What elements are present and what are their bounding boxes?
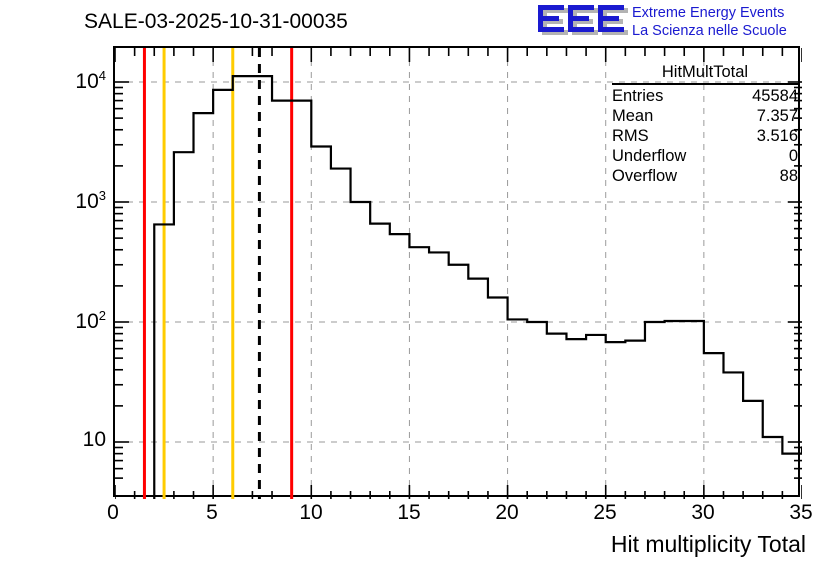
logo-line-1: Extreme Energy Events (632, 4, 787, 22)
x-tick-label-20: 20 (487, 501, 527, 525)
y-tick-label-10: 10 (48, 428, 106, 452)
stats-value: 7.357 (757, 106, 798, 126)
stats-row: Overflow88 (612, 166, 798, 186)
x-axis-title: Hit multiplicity Total (611, 531, 806, 558)
stats-row: RMS3.516 (612, 126, 798, 146)
y-tick-label-10e4: 104 (48, 68, 106, 94)
stats-row: Mean7.357 (612, 106, 798, 126)
x-tick-label-30: 30 (683, 501, 723, 525)
x-tick-label-15: 15 (389, 501, 429, 525)
stats-value: 88 (780, 166, 798, 186)
y-tick-label-10e3: 103 (48, 188, 106, 214)
stats-value: 0 (789, 146, 798, 166)
stats-label: Mean (612, 106, 653, 126)
stats-label: Overflow (612, 166, 677, 186)
x-tick-label-0: 0 (93, 501, 133, 525)
stats-row: Underflow0 (612, 146, 798, 166)
eee-logo-icon (536, 4, 628, 40)
stats-label: Underflow (612, 146, 686, 166)
stats-label: RMS (612, 126, 649, 146)
x-tick-label-10: 10 (291, 501, 331, 525)
stats-value: 3.516 (757, 126, 798, 146)
stats-box: HitMultTotal Entries45584Mean7.357RMS3.5… (612, 62, 798, 186)
stats-row: Entries45584 (612, 86, 798, 106)
stats-label: Entries (612, 86, 663, 106)
eee-logo-text: Extreme Energy Events La Scienza nelle S… (632, 4, 787, 40)
eee-logo: Extreme Energy Events La Scienza nelle S… (536, 2, 834, 44)
x-tick-label-5: 5 (192, 501, 232, 525)
marker-lines (144, 48, 291, 499)
stats-title: HitMultTotal (612, 62, 798, 85)
logo-line-2: La Scienza nelle Scuole (632, 22, 787, 40)
stats-value: 45584 (752, 86, 798, 106)
page-title: SALE-03-2025-10-31-00035 (84, 10, 348, 34)
histogram-canvas: SALE-03-2025-10-31-00035 (0, 0, 836, 572)
x-tick-label-25: 25 (585, 501, 625, 525)
x-tick-label-35: 35 (781, 501, 821, 525)
stats-rows: Entries45584Mean7.357RMS3.516Underflow0O… (612, 86, 798, 186)
y-tick-label-10e2: 102 (48, 308, 106, 334)
